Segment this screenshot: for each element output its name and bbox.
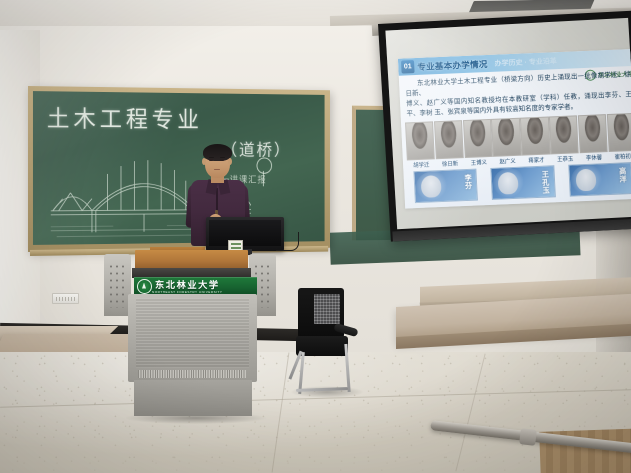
lectern-wood-top [135, 250, 248, 270]
featured-caption: 高洋 [616, 167, 627, 183]
portrait-item: 胡学迁 [406, 121, 435, 169]
presentation-slide: 01 专业基本办学情况 办学历史 · 专业沿革 东北林业大学 东北林业大学土木工… [398, 49, 631, 209]
chalk-sign-post [263, 171, 264, 186]
speaker-vent-grille [108, 263, 127, 308]
lectern-bottom-grille [138, 370, 246, 378]
presenter-brow-right [220, 157, 225, 158]
portrait-photo [491, 117, 521, 156]
lectern-front-panel [136, 298, 249, 368]
portrait-photo [405, 121, 435, 160]
blackboard-title: 土木工程专业 [47, 99, 203, 134]
portrait-photo [549, 115, 579, 154]
pipe-joint [519, 428, 537, 446]
monitor-screen [209, 220, 281, 246]
visitor-chair[interactable] [290, 288, 362, 396]
featured-portrait: 高洋 [568, 162, 631, 197]
chair-mesh-panel [314, 294, 340, 324]
portrait-name: 蒋家才 [528, 155, 545, 164]
slide-title: 专业基本办学情况 [417, 58, 488, 73]
presenter-ear-right [228, 158, 232, 165]
portrait-photo [607, 113, 631, 152]
projection-screen: 01 专业基本办学情况 办学历史 · 专业沿革 东北林业大学 东北林业大学土木工… [378, 11, 631, 242]
portrait-photo [463, 119, 493, 158]
portrait-photo [434, 120, 464, 159]
slide-title-secondary: 办学历史 · 专业沿革 [494, 56, 557, 69]
projection-surface: 01 专业基本办学情况 办学历史 · 专业沿革 东北林业大学 东北林业大学土木工… [385, 18, 631, 229]
blackboard: 土木工程专业 （道桥） 讲课汇报 [28, 86, 330, 252]
slide-number-badge: 01 [401, 60, 415, 74]
university-emblem-icon [137, 279, 152, 294]
podium-monitor[interactable] [206, 217, 284, 251]
featured-face [575, 168, 596, 191]
portrait-item: 王博义 [464, 119, 493, 167]
portrait-photo [578, 114, 608, 153]
lectern[interactable]: 东北林业大学 NORTHEAST FORESTRY UNIVERSITY [104, 250, 284, 430]
portrait-photo [520, 116, 550, 155]
presenter-eye-left [209, 159, 213, 161]
portrait-name: 王恭玉 [557, 154, 574, 163]
portrait-name: 李休馨 [586, 153, 603, 162]
portrait-name: 崔柏初 [614, 152, 631, 161]
portrait-name: 赵广义 [499, 157, 516, 166]
classroom-scene: 土木工程专业 （道桥） 讲课汇报 [0, 0, 631, 473]
portrait-name: 徐日新 [442, 159, 459, 168]
featured-caption: 王孔玉 [539, 170, 550, 194]
portrait-item: 赵广义 [492, 117, 521, 165]
featured-face [421, 175, 442, 198]
portrait-item: 蒋家才 [521, 116, 550, 164]
monitor-cable [276, 232, 299, 251]
portrait-item: 崔柏初 [608, 113, 631, 161]
presenter-ear-left [202, 158, 206, 165]
lectern-speaker-left [104, 254, 131, 316]
wall-outlet[interactable] [52, 293, 79, 304]
lectern-base [134, 380, 252, 416]
chalk-sign-icon [256, 157, 272, 173]
presenter-brow-left [209, 157, 214, 158]
featured-portrait: 李芬 [413, 168, 478, 203]
featured-caption: 李芬 [462, 173, 473, 189]
featured-portrait: 王孔玉 [491, 165, 556, 200]
lectern-nameplate: 东北林业大学 NORTHEAST FORESTRY UNIVERSITY [134, 277, 257, 295]
portrait-item: 李休馨 [579, 114, 608, 162]
presenter-eye-right [220, 159, 224, 161]
portrait-row: 胡学迁 徐日新 王博义 赵广义 [401, 111, 631, 169]
portrait-item: 徐日新 [435, 120, 464, 168]
slide-body-text: 东北林业大学土木工程专业（桥梁方向）历史上涌现出一批像胡学迁、徐日新、 博义、赵… [399, 66, 631, 122]
portrait-name: 王博义 [471, 158, 488, 167]
portrait-item: 王恭玉 [550, 115, 579, 163]
portrait-name: 胡学迁 [413, 160, 430, 169]
chair-leg [344, 344, 350, 392]
